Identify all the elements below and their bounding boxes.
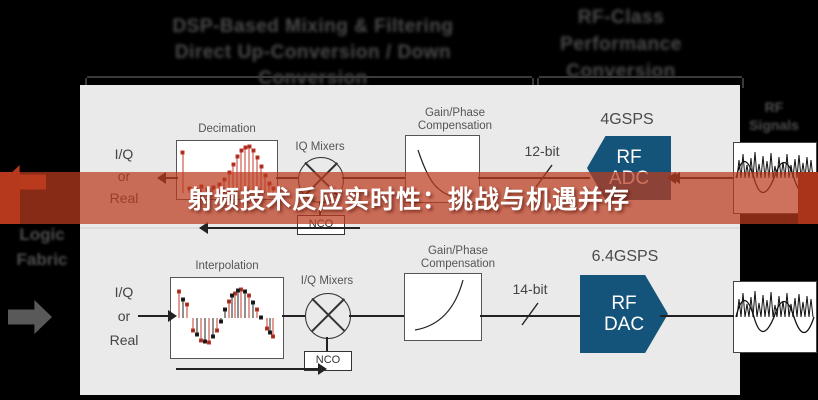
logic-fabric-line1: Logic: [0, 222, 84, 247]
tx-line-mixer-comp: [349, 315, 404, 317]
tx-line-filter-mixer: [282, 315, 305, 317]
interpolation-plot: [170, 277, 284, 359]
rx-mixer-label: IQ Mixers: [280, 141, 360, 154]
rf-dac-line2: DAC: [604, 314, 644, 335]
rx-line-feedback: [200, 227, 360, 229]
rx-comp-line2: Compensation: [395, 120, 515, 133]
rx-rate-label: 4GSPS: [572, 113, 682, 126]
heading-dsp-line1: DSP-Based Mixing & Filtering: [118, 14, 508, 40]
banner-title: 射频技术反应实时性：挑战与机遇并存: [0, 172, 818, 224]
rf-signals-line1: RF: [735, 98, 813, 116]
banner-title-text: 射频技术反应实时性：挑战与机遇并存: [188, 180, 630, 216]
panel-divider: [80, 227, 740, 229]
heading-rf-block: RF-Class Performance Conversion: [516, 4, 726, 85]
logic-fabric-label: Logic Fabric: [0, 222, 84, 272]
tx-io-line1: I/Q: [92, 280, 156, 304]
tx-filter-label: Interpolation: [168, 260, 286, 273]
rf-dac-line1: RF: [611, 293, 636, 314]
rx-io-line1: I/Q: [92, 143, 156, 165]
rf-adc-line1: RF: [616, 147, 641, 168]
heading-rf-line2: Performance: [516, 31, 726, 58]
rx-comp-line1: Gain/Phase: [395, 107, 515, 120]
tx-comp-line2: Compensation: [398, 258, 518, 271]
diagram-canvas: DSP-Based Mixing & Filtering Direct Up-C…: [0, 0, 818, 400]
tx-comp-block: [404, 273, 482, 341]
tx-bits-label: 14-bit: [500, 283, 560, 296]
rx-filter-label: Decimation: [172, 123, 282, 136]
tx-rate-label: 6.4GSPS: [562, 250, 688, 263]
tx-comp-label: Gain/Phase Compensation: [398, 245, 518, 271]
tx-line-sweep: [176, 368, 318, 370]
tx-comp-curve: [405, 274, 481, 340]
rf-tx-waveform-icon: [734, 282, 816, 352]
logic-fabric-out-arrow-icon: [8, 300, 52, 334]
tx-line-in: [138, 315, 168, 317]
rf-tx-output-line: [660, 315, 734, 317]
tx-bits-slash: [518, 301, 544, 329]
rf-signals-label: RF Signals: [735, 98, 813, 134]
tx-io-line3: Real: [92, 328, 156, 352]
interpolation-stem-svg: [171, 278, 283, 358]
rx-comp-label: Gain/Phase Compensation: [395, 107, 515, 133]
rf-signals-line2: Signals: [735, 116, 813, 134]
heading-rf-line1: RF-Class: [516, 4, 726, 31]
tx-comp-line1: Gain/Phase: [398, 245, 518, 258]
rx-bits-label: 12-bit: [512, 145, 572, 158]
tx-mixer-icon: [305, 293, 351, 339]
tx-mixer-label: I/Q Mixers: [285, 275, 369, 288]
rf-tx-waveform-box: [733, 281, 817, 353]
logic-fabric-line2: Fabric: [0, 247, 84, 272]
